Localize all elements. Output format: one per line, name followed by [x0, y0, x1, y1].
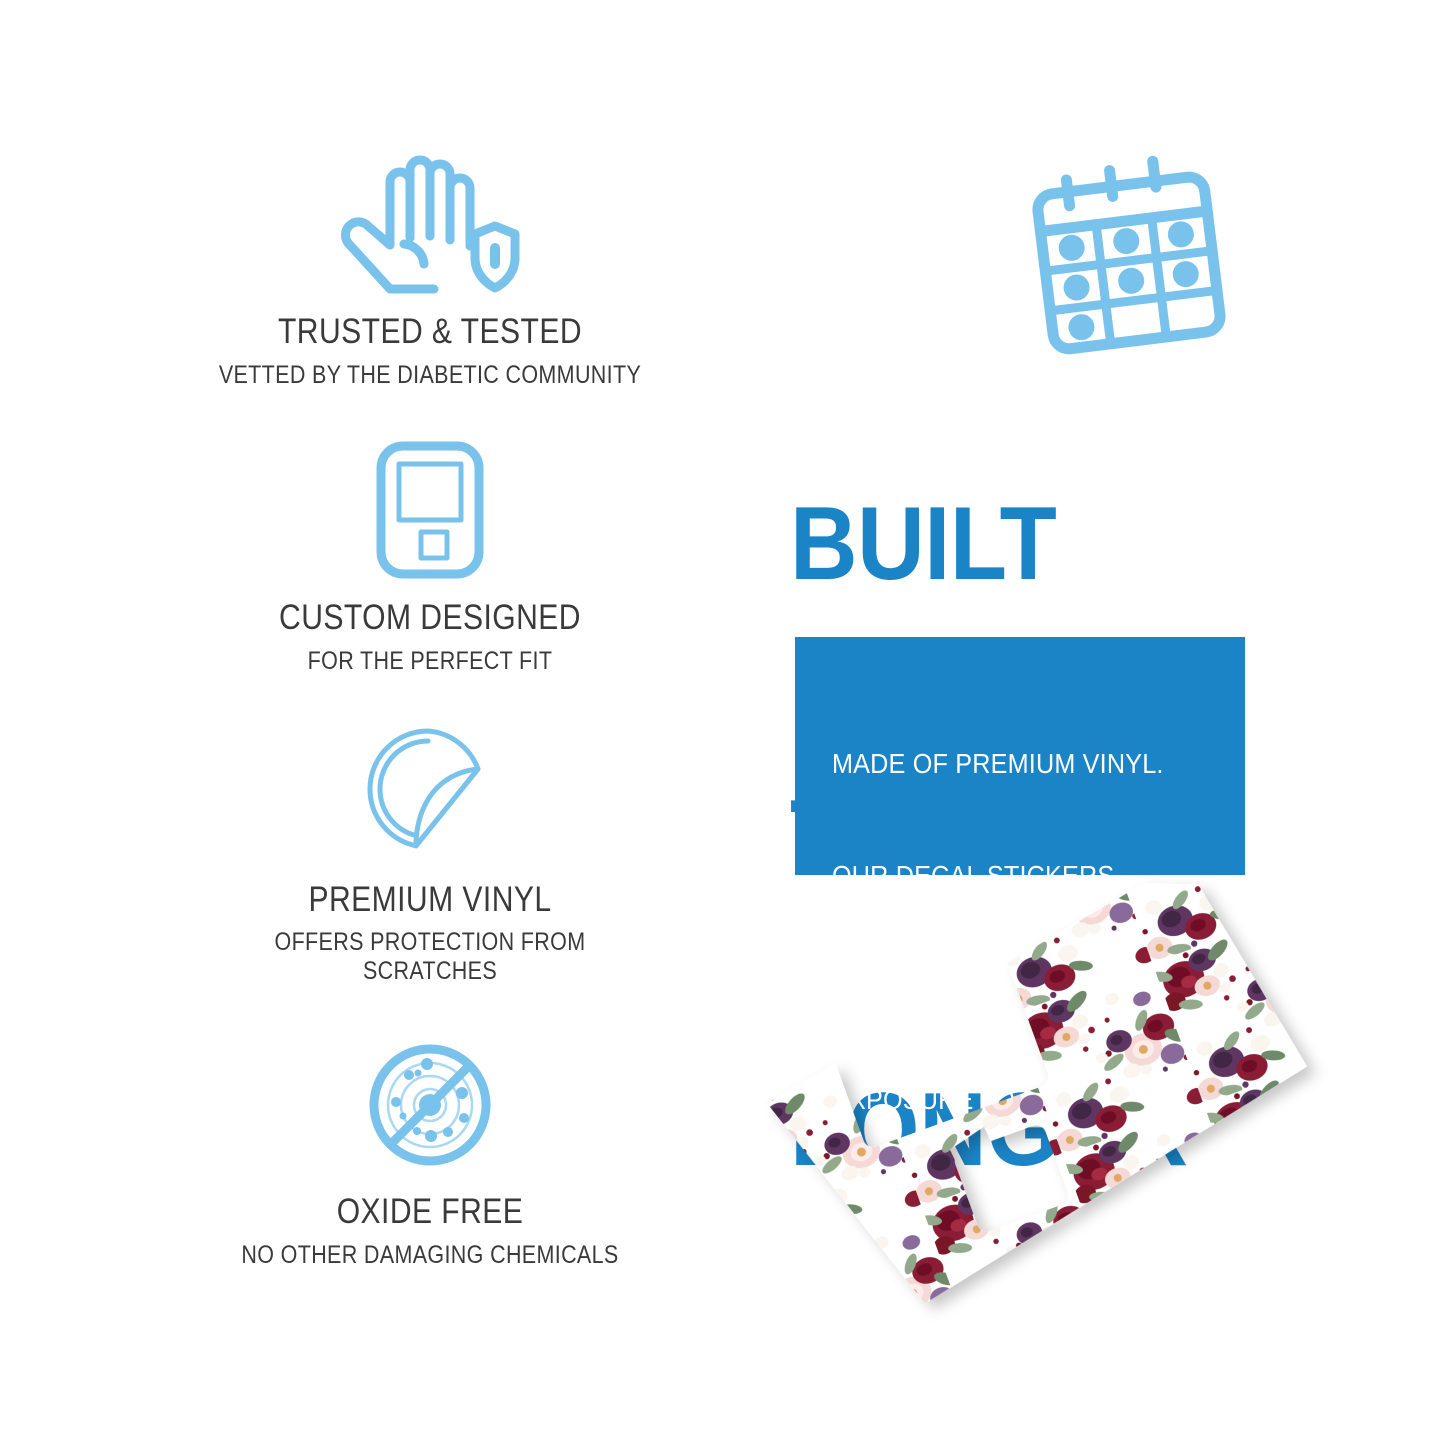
feature-title: CUSTOM DESIGNED — [215, 600, 645, 637]
feature-title: OXIDE FREE — [215, 1194, 645, 1231]
feature-title: TRUSTED & TESTED — [215, 314, 645, 351]
feature-title: PREMIUM VINYL — [215, 882, 645, 919]
hand-shield-icon — [180, 150, 680, 300]
sticker-sheet-illustration — [745, 855, 1365, 1355]
infographic-page: TRUSTED & TESTED VETTED BY THE DIABETIC … — [0, 0, 1445, 1445]
peeling-sticker-icon — [180, 718, 680, 868]
info-box: MADE OF PREMIUM VINYL. OUR DECAL STICKER… — [795, 637, 1245, 875]
feature-trusted-tested: TRUSTED & TESTED VETTED BY THE DIABETIC … — [180, 150, 680, 390]
info-line-1: MADE OF PREMIUM VINYL. — [832, 745, 1223, 782]
feature-custom-designed: CUSTOM DESIGNED FOR THE PERFECT FIT — [180, 436, 680, 676]
feature-oxide-free: OXIDE FREE NO OTHER DAMAGING CHEMICALS — [180, 1030, 680, 1270]
feature-list: TRUSTED & TESTED VETTED BY THE DIABETIC … — [180, 150, 680, 1270]
feature-subtitle: VETTED BY THE DIABETIC COMMUNITY — [215, 361, 645, 390]
feature-subtitle: FOR THE PERFECT FIT — [215, 647, 645, 676]
feature-subtitle: OFFERS PROTECTION FROM SCRATCHES — [215, 928, 645, 986]
product-sticker-sheet — [745, 855, 1365, 1355]
headline-line-1: BUILT — [790, 496, 1188, 594]
feature-subtitle: NO OTHER DAMAGING CHEMICALS — [215, 1241, 645, 1270]
no-bacteria-oxide-icon — [180, 1030, 680, 1180]
glucose-monitor-device-icon — [180, 436, 680, 586]
feature-premium-vinyl: PREMIUM VINYL OFFERS PROTECTION FROM SCR… — [180, 718, 680, 987]
